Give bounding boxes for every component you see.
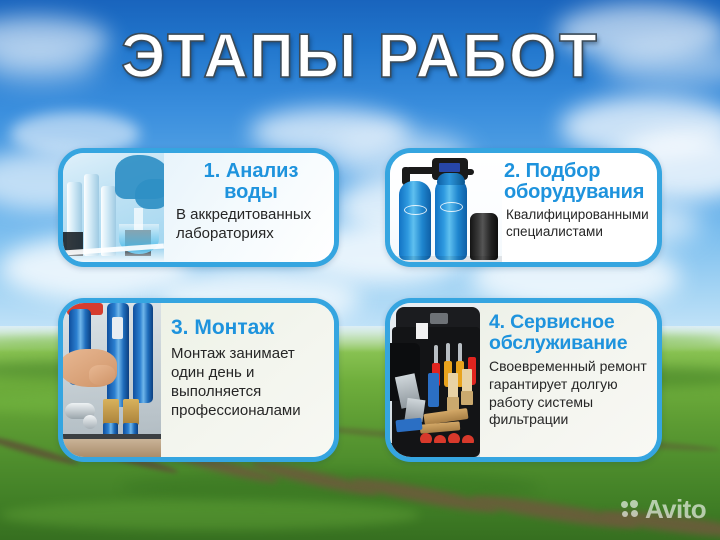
valve-display: [439, 163, 460, 172]
test-vial: [84, 174, 99, 256]
card-4-body: Своевременный ремонт гарантирует долгую …: [489, 358, 651, 429]
avito-dot: [630, 500, 638, 508]
card-2-body: Квалифицированными специалистами: [506, 206, 651, 240]
photo-shadow: [390, 256, 502, 262]
poster-canvas: ЭТАПЫ РАБОТ 1. Анализ воды В аккредитова…: [0, 0, 720, 540]
brine-tank: [470, 213, 498, 260]
flask-neck: [134, 208, 143, 230]
card-4-heading: 4. Сервисное обслуживание: [489, 312, 651, 353]
avito-dot: [621, 501, 628, 508]
step-card-2[interactable]: 2. Подбор оборудувания Квалифицированным…: [385, 148, 662, 267]
card-3-text: 3. Монтаж Монтаж занимает один день и вы…: [161, 303, 334, 457]
brass-fitting: [123, 399, 139, 425]
card-2-heading: 2. Подбор оборудувания: [504, 161, 651, 203]
filtration-tanks-photo: [390, 153, 502, 262]
card-1-heading: 1. Анализ воды: [174, 161, 328, 203]
gloved-hand: [135, 179, 164, 209]
housing-label: [112, 317, 123, 339]
step-card-4[interactable]: 4. Сервисное обслуживание Своевременный …: [385, 298, 662, 462]
avito-dot: [622, 511, 628, 517]
card-3-body: Монтаж занимает один день и выполняется …: [171, 345, 328, 421]
installer-hand: [89, 365, 115, 385]
avito-wordmark: Avito: [645, 496, 706, 522]
tank-logo: [440, 202, 463, 212]
grass-highlight: [0, 500, 420, 530]
toolbag-base: [390, 443, 480, 457]
blue-tool: [428, 373, 439, 407]
toolbag-tag: [430, 313, 448, 324]
tank-cap: [437, 173, 465, 185]
brass-fitting: [103, 399, 119, 425]
filter-tank: [399, 181, 431, 260]
avito-dot: [631, 510, 638, 517]
water-analysis-photo: [63, 153, 164, 262]
tank-logo: [404, 205, 427, 215]
counter-surface: [63, 437, 161, 457]
filter-housing: [133, 303, 153, 403]
card-4-text: 4. Сервисное обслуживание Своевременный …: [480, 303, 657, 457]
card-1-text: 1. Анализ воды В аккредитованных лаборат…: [164, 153, 334, 262]
toolbag-tag: [416, 323, 428, 339]
step-card-3[interactable]: 3. Монтаж Монтаж занимает один день и вы…: [58, 298, 339, 462]
chrome-valve: [83, 415, 97, 429]
card-1-body: В аккредитованных лабораториях: [172, 206, 330, 244]
counter-edge: [63, 434, 161, 439]
page-title: ЭТАПЫ РАБОТ: [0, 26, 720, 88]
card-3-heading: 3. Монтаж: [171, 317, 328, 339]
installation-photo: [63, 303, 161, 457]
test-vial: [101, 186, 116, 256]
filter-tank: [435, 177, 467, 260]
brush-bristles: [461, 391, 473, 405]
tank-pipe: [464, 169, 474, 175]
step-card-1[interactable]: 1. Анализ воды В аккредитованных лаборат…: [58, 148, 339, 267]
avito-watermark: Avito: [621, 496, 706, 522]
toolbag-service-photo: [390, 303, 480, 457]
avito-dots-logo: [621, 500, 640, 519]
card-2-text: 2. Подбор оборудувания Квалифицированным…: [502, 153, 657, 262]
